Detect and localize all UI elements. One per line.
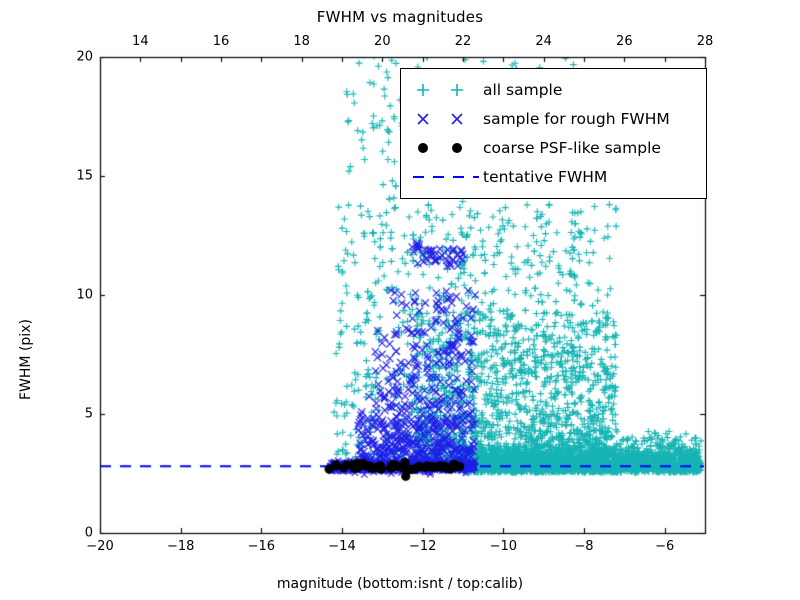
top-tick-label: 26 — [616, 34, 633, 49]
y-tick-label: 10 — [76, 288, 93, 303]
top-tick-label: 14 — [132, 34, 149, 49]
x-tick-label: −6 — [655, 539, 674, 554]
chart-legend: all samplesample for rough FWHMcoarse PS… — [400, 68, 707, 199]
top-tick-label: 20 — [374, 34, 391, 49]
top-tick-label: 24 — [535, 34, 552, 49]
y-tick-label: 5 — [85, 407, 93, 422]
x-tick-label: −18 — [167, 539, 194, 554]
legend-item: sample for rough FWHM — [409, 104, 696, 133]
y-axis-label: FWHM (pix) — [18, 319, 34, 400]
top-tick-label: 28 — [697, 34, 714, 49]
x-tick-label: −8 — [574, 539, 593, 554]
x-axis-label: magnitude (bottom:isnt / top:calib) — [0, 576, 800, 592]
legend-label: coarse PSF-like sample — [483, 139, 661, 157]
dashed-marker-icon — [409, 165, 483, 189]
circle-marker-icon — [409, 136, 483, 160]
plus-marker-icon — [409, 78, 483, 102]
legend-item: all sample — [409, 75, 696, 104]
legend-label: tentative FWHM — [483, 168, 607, 186]
x-tick-label: −10 — [490, 539, 517, 554]
top-tick-label: 22 — [455, 34, 472, 49]
x-tick-label: −20 — [86, 539, 113, 554]
cross-marker-icon — [409, 107, 483, 131]
legend-item: tentative FWHM — [409, 162, 696, 191]
y-tick-label: 0 — [85, 526, 93, 541]
legend-label: all sample — [483, 81, 562, 99]
x-tick-label: −14 — [328, 539, 355, 554]
figure-root: FWHM vs magnitudes −20−18−16−14−12−10−8−… — [0, 0, 800, 600]
y-tick-label: 20 — [76, 50, 93, 65]
legend-item: coarse PSF-like sample — [409, 133, 696, 162]
top-tick-label: 18 — [293, 34, 310, 49]
top-tick-label: 16 — [213, 34, 230, 49]
x-tick-label: −12 — [409, 539, 436, 554]
legend-label: sample for rough FWHM — [483, 110, 670, 128]
y-tick-label: 15 — [76, 169, 93, 184]
x-tick-label: −16 — [248, 539, 275, 554]
